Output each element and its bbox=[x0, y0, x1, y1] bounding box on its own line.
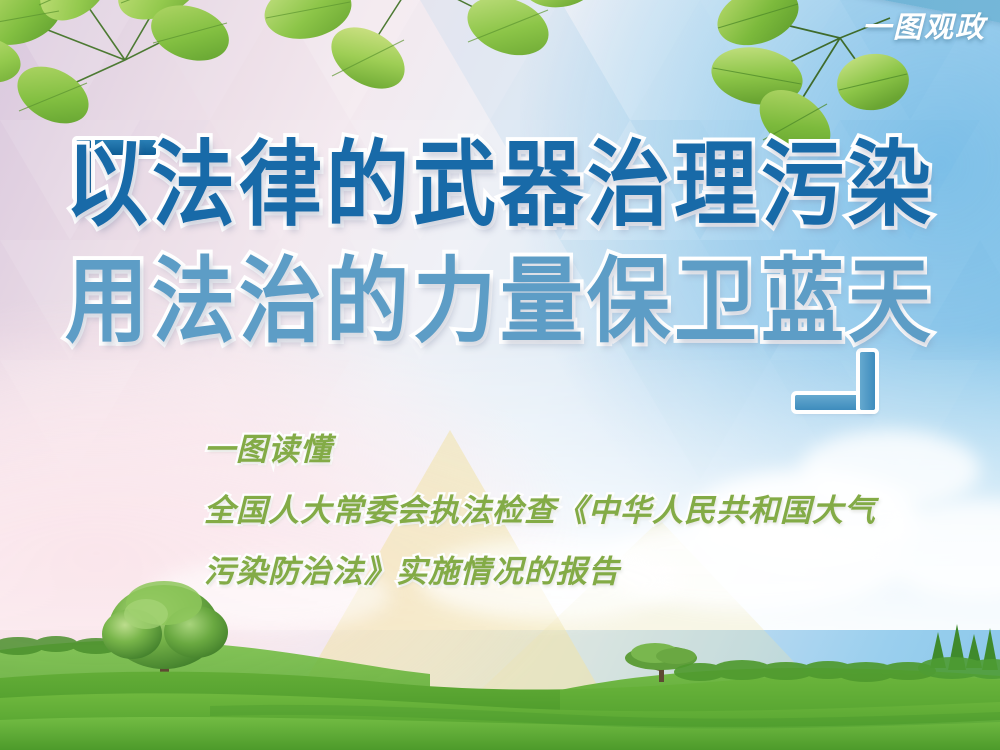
badge-label: 一图观政 bbox=[862, 4, 986, 46]
leaves-top-center bbox=[250, 0, 580, 108]
subtitle-line-2: 全国人大常委会执法检查《中华人民共和国大气 bbox=[204, 485, 964, 530]
page-title: 以法律的武器治理污染 用法治的力量保卫蓝天 bbox=[0, 132, 1000, 338]
title-line-2: 用法治的力量保卫蓝天 bbox=[0, 255, 1000, 348]
subtitle-line-1: 一图读懂 bbox=[204, 424, 964, 469]
poster-canvas: 一图观政 bbox=[0, 0, 1000, 750]
landscape-illustration bbox=[0, 570, 1000, 750]
title-line-1: 以法律的武器治理污染 bbox=[0, 132, 1000, 232]
